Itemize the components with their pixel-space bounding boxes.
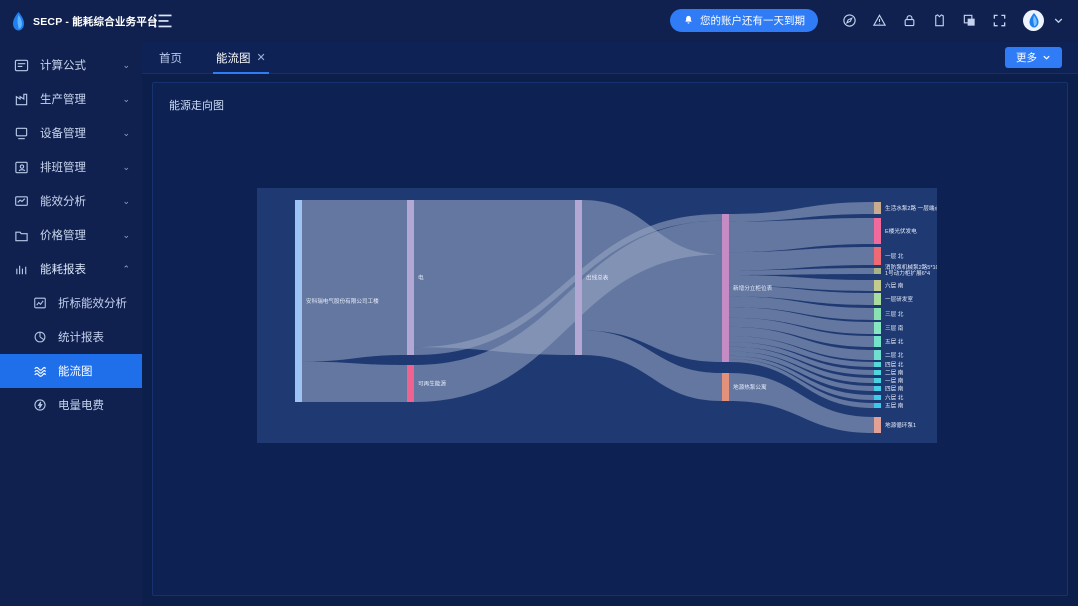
sidebar: SECP - 能耗综合业务平台 计算公式 ⌄ 生产管理 ⌄ [0, 0, 142, 606]
sankey-node[interactable] [874, 322, 881, 334]
sankey-node[interactable] [407, 365, 414, 402]
copy-icon[interactable] [962, 13, 977, 28]
pie-chart-icon [33, 330, 47, 344]
tab-home[interactable]: 首页 [142, 42, 199, 74]
sankey-node[interactable] [874, 247, 881, 265]
sankey-svg: 安科瑞电气股份有限公司工楼电可再生能源出线总表新增分立柜位表地源热泵公寓生活水泵… [257, 188, 937, 443]
sankey-node[interactable] [874, 202, 881, 214]
sidebar-subitem-electricity-fee[interactable]: 电量电费 [0, 388, 142, 422]
sankey-node-label: 一层研发室 [885, 295, 913, 303]
sankey-node-label: 地源热泵公寓 [733, 383, 767, 391]
user-avatar-icon [1028, 13, 1040, 28]
sidebar-item-label: 能效分析 [40, 193, 111, 209]
sidebar-item-efficiency[interactable]: 能效分析 ⌄ [0, 184, 142, 218]
sankey-node-label: 三层 南 [885, 324, 904, 332]
sidebar-item-label: 价格管理 [40, 227, 111, 243]
close-icon[interactable]: ✕ [257, 51, 266, 64]
sankey-node[interactable] [874, 386, 881, 391]
sidebar-item-device[interactable]: 设备管理 ⌄ [0, 116, 142, 150]
sidebar-item-label: 排班管理 [40, 159, 111, 175]
sidebar-subitem-label: 折标能效分析 [58, 295, 127, 311]
chevron-down-icon[interactable]: ⌄ [122, 95, 130, 104]
sankey-node-label: 二层 北 [885, 351, 904, 359]
sankey-link[interactable] [302, 362, 407, 402]
sankey-node-label: 二层 南 [885, 369, 904, 377]
more-button-label: 更多 [1016, 50, 1037, 65]
compass-icon[interactable] [842, 13, 857, 28]
sidebar-item-schedule[interactable]: 排班管理 ⌄ [0, 150, 142, 184]
sidebar-subitem-statistics-report[interactable]: 统计报表 [0, 320, 142, 354]
sankey-node[interactable] [874, 280, 881, 291]
account-expiry-text: 您的账户还有一天到期 [700, 13, 805, 28]
bar-chart-icon [14, 262, 29, 277]
sankey-chart[interactable]: 安科瑞电气股份有限公司工楼电可再生能源出线总表新增分立柜位表地源热泵公寓生活水泵… [257, 188, 937, 443]
chevron-down-icon[interactable]: ⌄ [122, 197, 130, 206]
sankey-node-label: 可再生能源 [418, 380, 446, 388]
sankey-node-label: 消防泵机械泵2路5*101号动力柜扩展6*4 [885, 263, 937, 277]
sidebar-item-production[interactable]: 生产管理 ⌄ [0, 82, 142, 116]
sidebar-subitem-standard-efficiency[interactable]: 折标能效分析 [0, 286, 142, 320]
warning-triangle-icon[interactable] [872, 13, 887, 28]
sankey-node[interactable] [722, 214, 729, 362]
account-expiry-notice[interactable]: 您的账户还有一天到期 [670, 9, 818, 32]
sidebar-subitem-energy-flow[interactable]: 能流图 [0, 354, 142, 388]
tab-energy-flow[interactable]: 能流图 ✕ [199, 42, 283, 74]
sankey-node[interactable] [874, 218, 881, 244]
lock-icon[interactable] [902, 13, 917, 28]
energy-flow-card: 能源走向图 安科瑞电气股份有限公司工楼电可再生能源出线总表新增分立柜位表地源热泵… [152, 82, 1068, 596]
sankey-node-label: 四层 北 [885, 361, 904, 369]
sidebar-subitem-label: 电量电费 [58, 397, 104, 413]
topbar-icons [842, 13, 1007, 28]
sankey-node[interactable] [874, 336, 881, 347]
main-area: 您的账户还有一天到期 [142, 0, 1078, 606]
sidebar-menu: 计算公式 ⌄ 生产管理 ⌄ 设备管理 ⌄ [0, 42, 142, 422]
sankey-node[interactable] [407, 200, 414, 355]
sankey-node[interactable] [874, 370, 881, 375]
sankey-node[interactable] [874, 395, 881, 400]
folder-icon [14, 228, 29, 243]
tab-label: 首页 [159, 50, 182, 66]
sankey-node[interactable] [874, 308, 881, 320]
monitor-chart-icon [14, 194, 29, 209]
sidebar-item-label: 生产管理 [40, 91, 111, 107]
sankey-node-label: 五层 南 [885, 402, 904, 410]
sankey-node[interactable] [874, 417, 881, 433]
sidebar-item-energy-report[interactable]: 能耗报表 ⌃ [0, 252, 142, 286]
brand[interactable]: SECP - 能耗综合业务平台 [0, 0, 142, 42]
bell-icon [683, 15, 694, 26]
bolt-circle-icon [33, 398, 47, 412]
page-title: 能源走向图 [169, 97, 1051, 113]
sankey-node-label: 六层 南 [885, 282, 904, 290]
sankey-node-label: 五层 北 [885, 338, 904, 346]
more-button[interactable]: 更多 [1005, 47, 1062, 68]
shirt-icon[interactable] [932, 13, 947, 28]
tab-bar: 首页 能流图 ✕ 更多 [142, 42, 1078, 74]
schedule-icon [14, 160, 29, 175]
sankey-node-label: 一层 北 [885, 252, 904, 260]
sankey-node[interactable] [295, 200, 302, 402]
brand-name: SECP - 能耗综合业务平台 [33, 14, 158, 29]
sankey-node-label: 三层 北 [885, 310, 904, 318]
tab-label: 能流图 [216, 50, 251, 66]
flame-droplet-icon [11, 12, 26, 31]
sankey-node-label: 六层 北 [885, 394, 904, 402]
sankey-node-label: 生活水泵2路 一层端点 [885, 204, 937, 212]
chevron-down-icon[interactable] [1053, 15, 1064, 26]
sankey-node[interactable] [874, 268, 881, 274]
formula-icon [14, 58, 29, 73]
sankey-node-label: 四层 南 [885, 385, 904, 393]
sankey-node-label: 一层 南 [885, 377, 904, 385]
sidebar-item-label: 能耗报表 [40, 261, 111, 277]
user-avatar[interactable] [1023, 10, 1044, 31]
sankey-node[interactable] [874, 350, 881, 360]
sankey-node[interactable] [874, 362, 881, 367]
device-icon [14, 126, 29, 141]
sidebar-subitem-label: 统计报表 [58, 329, 104, 345]
sankey-link[interactable] [729, 218, 874, 252]
sidebar-subitem-label: 能流图 [58, 363, 93, 379]
content-area: 能源走向图 安科瑞电气股份有限公司工楼电可再生能源出线总表新增分立柜位表地源热泵… [142, 74, 1078, 606]
sankey-node[interactable] [874, 403, 881, 408]
line-chart-icon [33, 296, 47, 310]
chevron-down-icon [1042, 53, 1051, 62]
factory-icon [14, 92, 29, 107]
sankey-node[interactable] [874, 378, 881, 383]
topbar: 您的账户还有一天到期 [142, 0, 1078, 42]
chevron-down-icon[interactable]: ⌄ [122, 129, 130, 138]
sankey-node-label: 地源循环泵1 [885, 421, 916, 429]
chevron-down-icon[interactable]: ⌄ [122, 163, 130, 172]
sankey-node-label: 新增分立柜位表 [733, 284, 773, 292]
app-window: SECP - 能耗综合业务平台 计算公式 ⌄ 生产管理 ⌄ [0, 0, 1078, 606]
sankey-node-label: 安科瑞电气股份有限公司工楼 [306, 297, 379, 305]
sidebar-item-label: 计算公式 [40, 57, 111, 73]
sidebar-item-label: 设备管理 [40, 125, 111, 141]
sankey-node[interactable] [575, 200, 582, 355]
sidebar-item-formula[interactable]: 计算公式 ⌄ [0, 48, 142, 82]
fullscreen-icon[interactable] [992, 13, 1007, 28]
sidebar-item-price[interactable]: 价格管理 ⌄ [0, 218, 142, 252]
sidebar-submenu: 折标能效分析 统计报表 能流图 [0, 286, 142, 422]
chevron-down-icon[interactable]: ⌄ [122, 61, 130, 70]
sankey-node-label: 电 [418, 274, 424, 282]
sankey-links [302, 200, 874, 433]
sankey-node-label: E楼光伏发电 [885, 227, 917, 235]
wave-icon [33, 364, 47, 378]
chevron-up-icon[interactable]: ⌃ [122, 265, 130, 274]
sankey-link[interactable] [302, 200, 407, 362]
sankey-node[interactable] [874, 293, 881, 305]
sankey-node[interactable] [722, 373, 729, 401]
sankey-node-label: 出线总表 [586, 274, 609, 282]
chevron-down-icon[interactable]: ⌄ [122, 231, 130, 240]
